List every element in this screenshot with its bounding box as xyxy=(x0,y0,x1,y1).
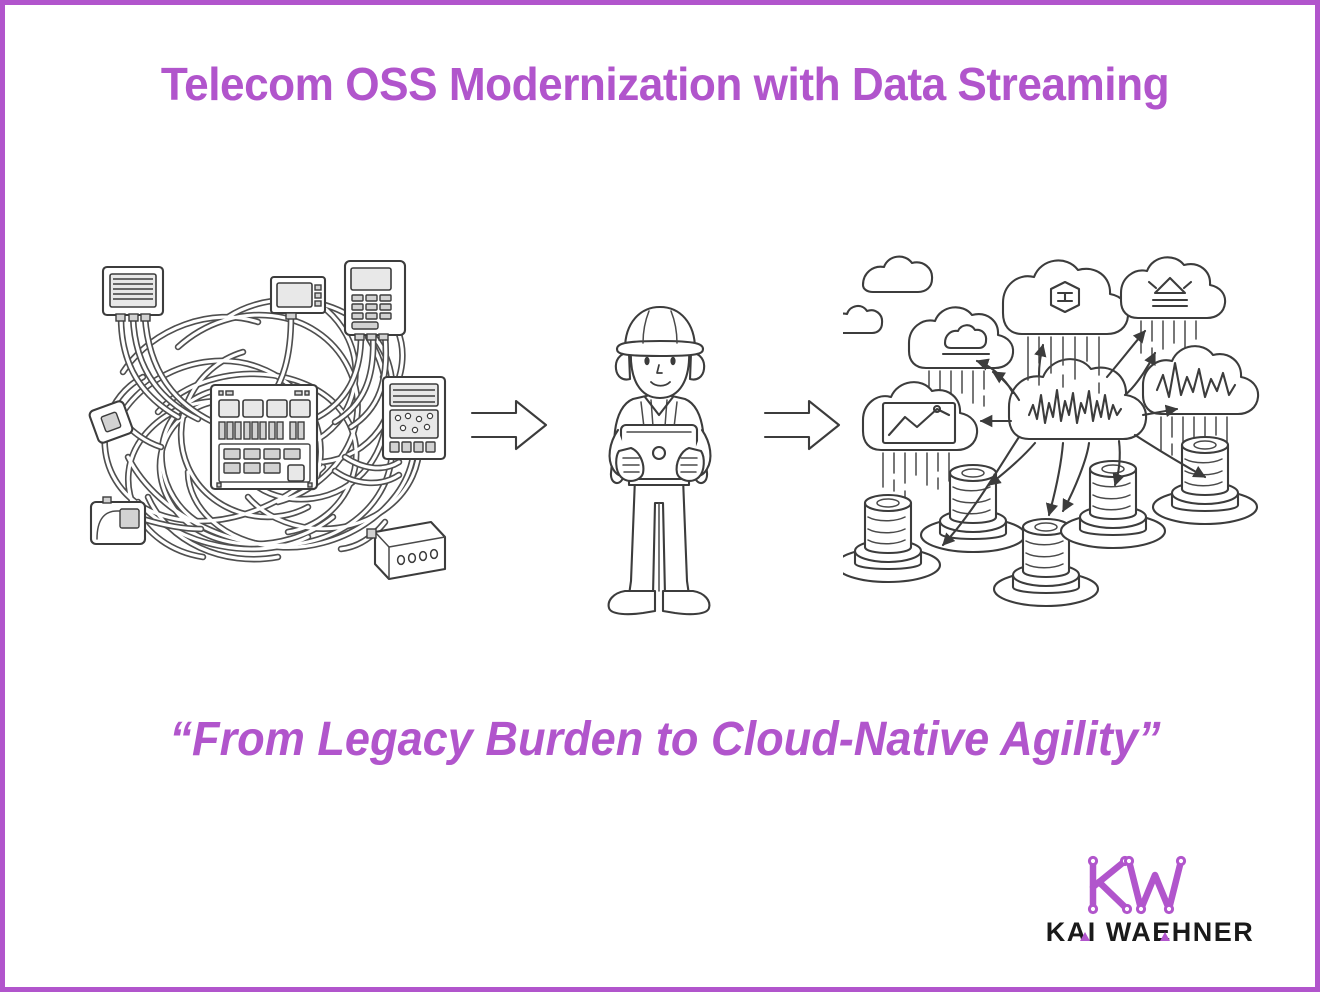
plain-cloud-b xyxy=(843,306,882,333)
legacy-equipment-illustration xyxy=(83,257,453,587)
kw-monogram-icon xyxy=(1081,851,1201,917)
field-technician-illustration xyxy=(585,303,745,633)
keypad-terminal-device xyxy=(345,261,405,340)
upload-cloud-right xyxy=(1121,257,1225,358)
database-node-4 xyxy=(1061,461,1165,548)
wall-socket-device xyxy=(91,497,145,544)
svg-text:KAI WAEHNER: KAI WAEHNER xyxy=(1046,917,1255,947)
connector-block-device xyxy=(367,522,445,579)
plain-cloud-a xyxy=(863,257,932,292)
flow-arrow-2 xyxy=(763,395,843,455)
data-streaming-cloud xyxy=(1009,359,1146,439)
brand-logo: KAI WAEHNER KAI WAEHNER xyxy=(1043,851,1257,947)
small-monitor-device xyxy=(271,277,325,319)
diagnostic-meter-device xyxy=(383,377,445,459)
database-node-5 xyxy=(1153,437,1257,524)
slide-canvas: Telecom OSS Modernization with Data Stre… xyxy=(0,0,1320,992)
page-title: Telecom OSS Modernization with Data Stre… xyxy=(31,57,1298,111)
brand-wordmark: KAI WAEHNER KAI WAEHNER xyxy=(1043,917,1257,947)
patch-panel-device xyxy=(103,267,163,321)
central-control-panel xyxy=(211,385,317,489)
cloud-streaming-illustration xyxy=(843,245,1263,615)
flow-arrow-1 xyxy=(470,395,550,455)
slide-subtitle: “From Legacy Burden to Cloud-Native Agil… xyxy=(45,712,1286,767)
illustration-band xyxy=(5,245,1320,645)
